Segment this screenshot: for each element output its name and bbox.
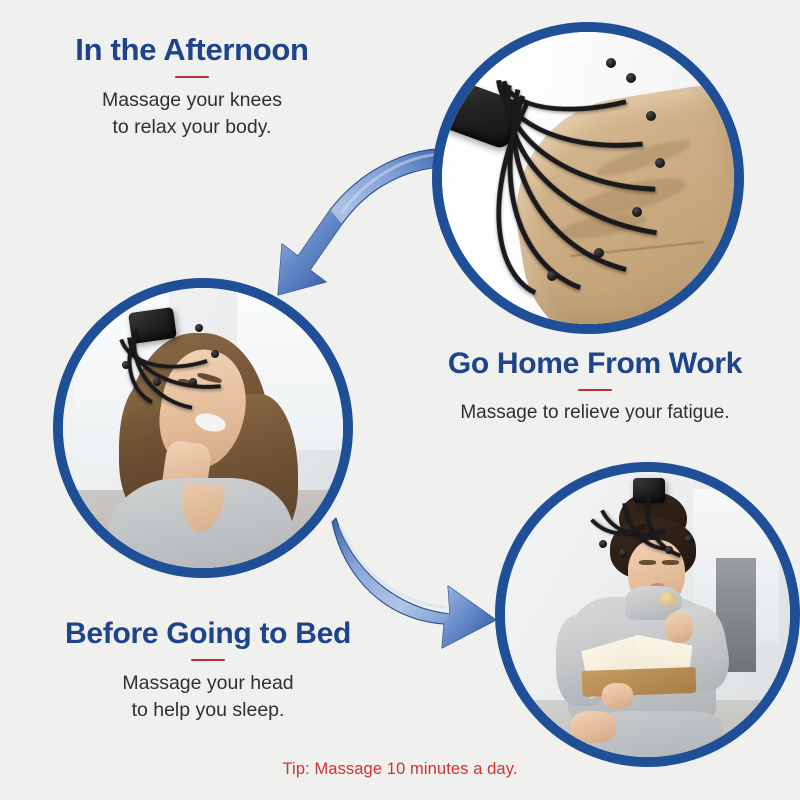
step-bed-divider (191, 659, 225, 661)
step-work-text: Go Home From Work Massage to relieve you… (400, 348, 790, 426)
head-photo-scene (63, 288, 343, 568)
massager-arm-tip (655, 158, 665, 168)
knee-photo-scene (442, 32, 734, 324)
massager-arm-tip (153, 378, 161, 386)
massager-arm-tip (189, 378, 197, 386)
massager-arm-tip (599, 540, 607, 548)
step-work-heading: Go Home From Work (400, 348, 790, 380)
massager-arm-tip (195, 324, 203, 332)
step-afternoon-heading: In the Afternoon (22, 34, 362, 67)
head-massage-photo (53, 278, 353, 578)
massager-arm-tip (547, 271, 557, 281)
knee-massage-photo (432, 22, 744, 334)
step-work-subtitle: Massage to relieve your fatigue. (400, 400, 790, 427)
massager-arm-tip (122, 361, 130, 369)
massager-arm-tip (211, 350, 219, 358)
step-afternoon-divider (175, 76, 209, 78)
step-bed-subtitle: Massage your head to help you sleep. (18, 670, 398, 725)
massager-arm-tip (594, 248, 604, 258)
reading-massage-photo (495, 462, 800, 767)
massager-arm-tip (665, 546, 673, 554)
massager-arm-tip (626, 73, 636, 83)
head-massager-device (505, 472, 790, 757)
massager-arm-tip (632, 207, 642, 217)
head-massager-device (63, 288, 343, 568)
reading-photo-scene (505, 472, 790, 757)
massager-arm-tip (619, 549, 627, 557)
massager-arm-tip (606, 58, 616, 68)
step-afternoon-text: In the Afternoon Massage your knees to r… (22, 34, 362, 142)
head-massager-device (442, 32, 734, 324)
step-work-divider (578, 389, 612, 391)
infographic-canvas: In the Afternoon Massage your knees to r… (0, 0, 800, 800)
massager-arm-tip (685, 535, 693, 543)
